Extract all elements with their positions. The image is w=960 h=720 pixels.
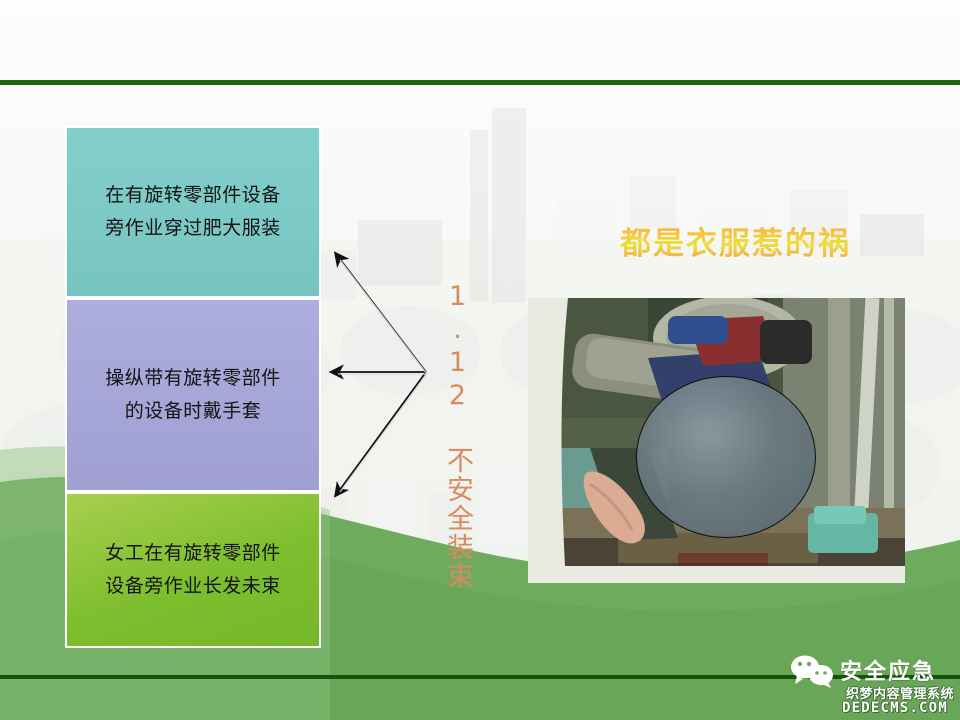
callout-loose-clothing[interactable]: 在有旋转零部件设备 旁作业穿过肥大服装	[65, 126, 321, 298]
callout-line-2: 设备旁作业长发未束	[105, 570, 281, 603]
callout-line-1: 在有旋转零部件设备	[105, 179, 281, 212]
callout-long-hair[interactable]: 女工在有旋转零部件 设备旁作业长发未束	[65, 492, 321, 648]
callout-line-2: 旁作业穿过肥大服装	[105, 212, 281, 245]
section-title-vertical: 1.12 不安全装束	[428, 281, 474, 591]
watermark-site-domain: DEDECMS.COM	[842, 700, 948, 716]
callout-gloves[interactable]: 操纵带有旋转零部件 的设备时戴手套	[65, 298, 321, 492]
photo-redaction-ellipse	[636, 376, 816, 538]
callout-box-stack: 在有旋转零部件设备 旁作业穿过肥大服装 操纵带有旋转零部件 的设备时戴手套 女工…	[65, 126, 321, 648]
accident-photo	[528, 298, 905, 583]
callout-line-2: 的设备时戴手套	[125, 395, 262, 428]
presentation-slide: 在有旋转零部件设备 旁作业穿过肥大服装 操纵带有旋转零部件 的设备时戴手套 女工…	[0, 0, 960, 720]
arrow-to-box-3	[336, 372, 426, 495]
callout-line-1: 女工在有旋转零部件	[105, 537, 281, 570]
wechat-icon	[790, 654, 836, 688]
top-divider-rule	[0, 80, 960, 85]
account-name: 安全应急	[840, 654, 936, 686]
callout-line-1: 操纵带有旋转零部件	[105, 362, 281, 395]
headline-text: 都是衣服惹的祸	[620, 218, 851, 263]
watermark-badge: 安全应急 织梦内容管理系统 DEDECMS.COM	[790, 650, 960, 720]
